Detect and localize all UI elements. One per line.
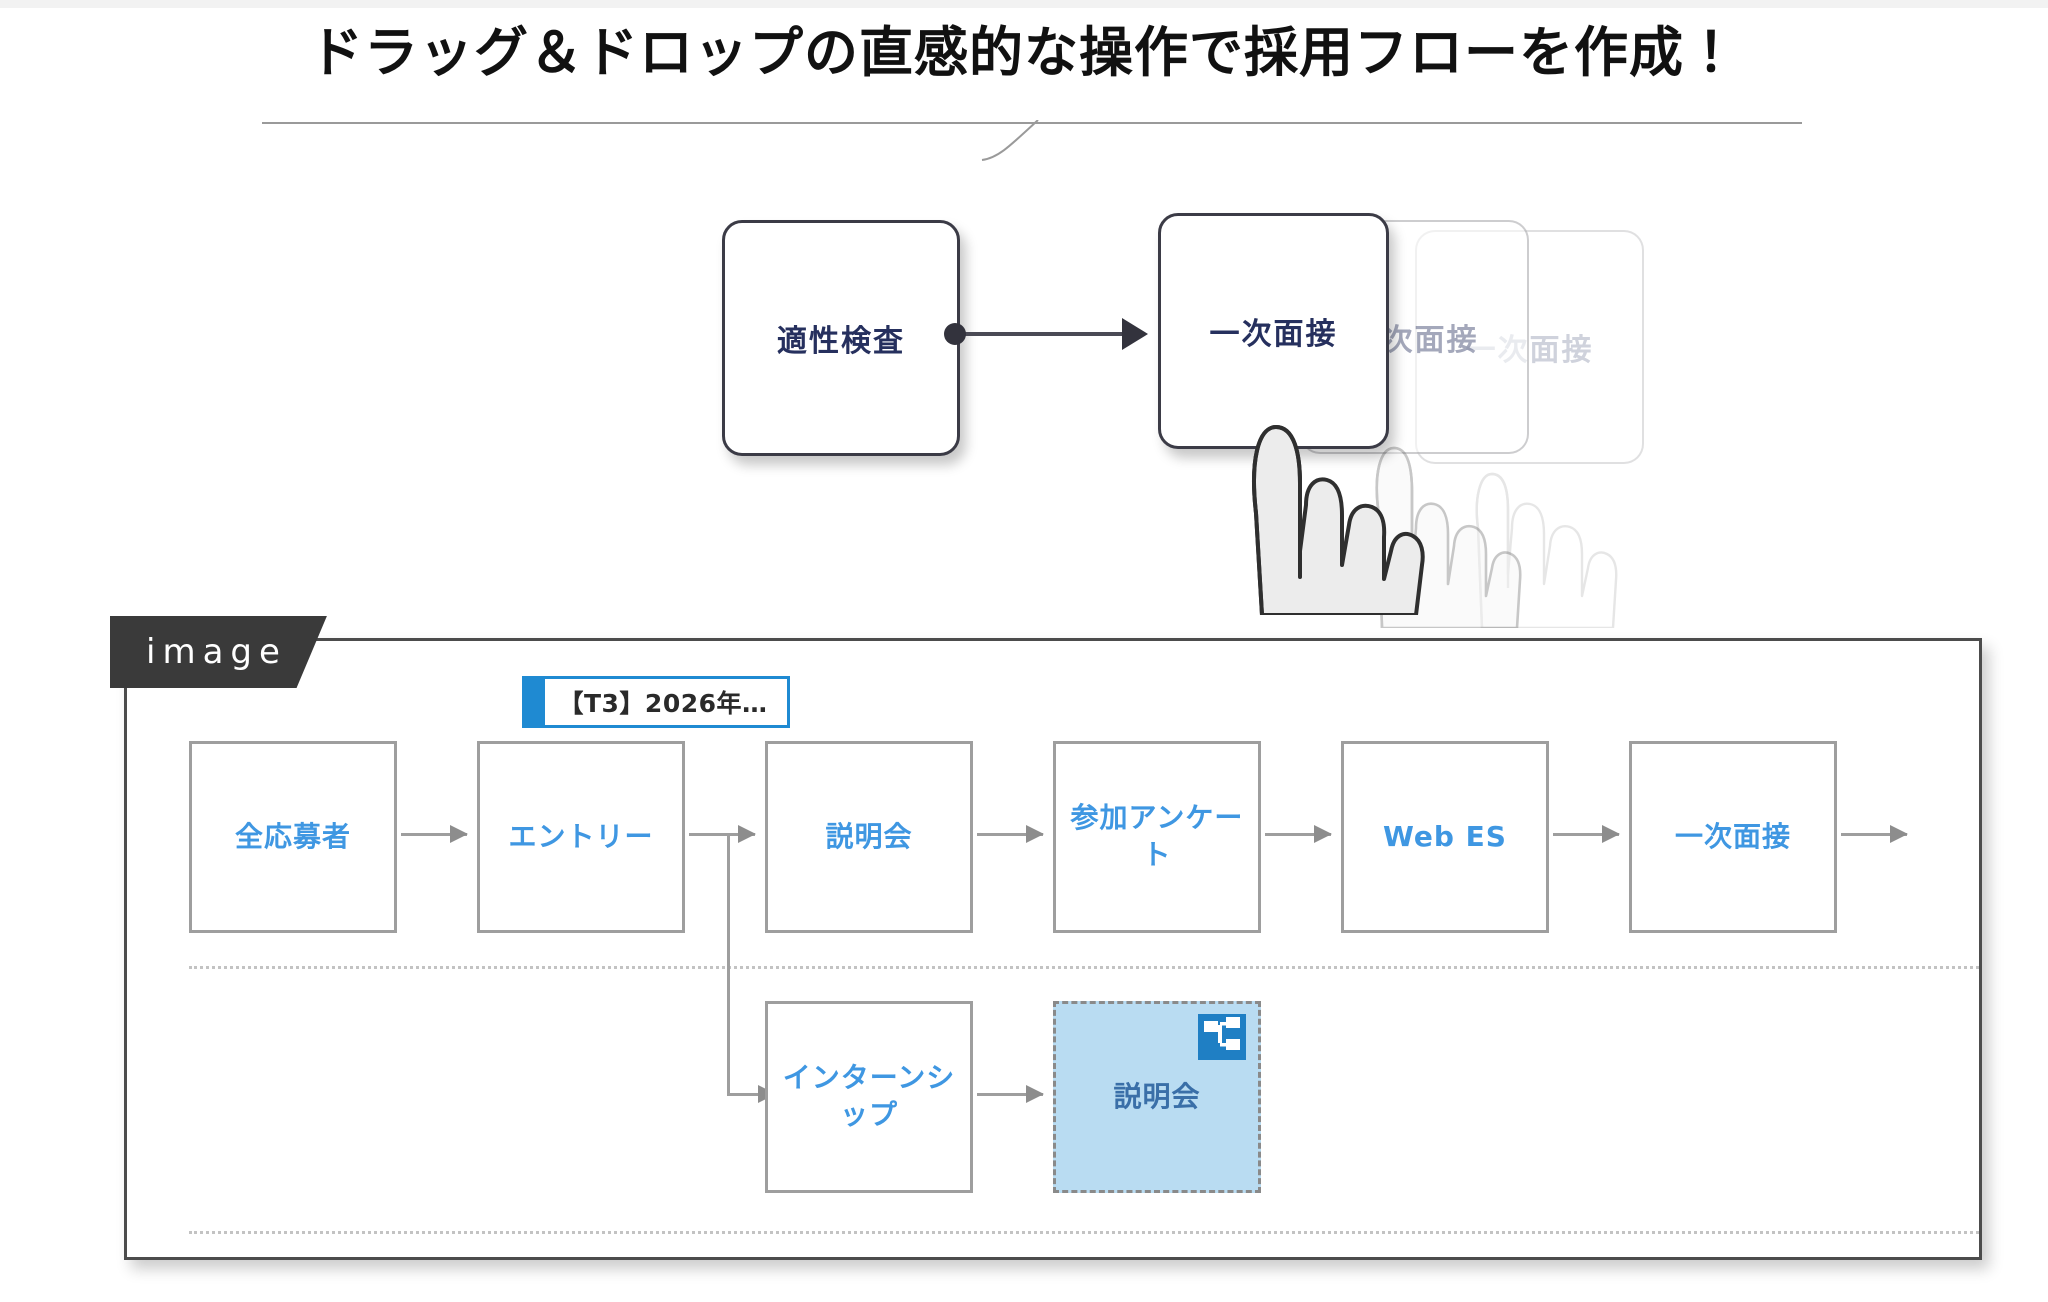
flow-arrow-3 <box>977 833 1043 836</box>
flow-arrow-2 <box>689 833 755 836</box>
drag-illustration: 一次面接 一次面接 適性検査 一次面接 <box>0 150 2048 620</box>
flow-node-briefing-selected[interactable]: 説明会 <box>1053 1001 1261 1193</box>
flow-node-attendance-survey[interactable]: 参加アンケート <box>1053 741 1261 933</box>
chip-code: 【T3】 <box>558 689 644 718</box>
flow-node-briefing[interactable]: 説明会 <box>765 741 973 933</box>
flow-node-label: 全応募者 <box>235 819 351 856</box>
lane-divider-2 <box>189 1231 1979 1234</box>
flow-arrow-1 <box>401 833 467 836</box>
flow-node-label: 一次面接 <box>1210 309 1338 353</box>
connector-line <box>960 332 1132 336</box>
chip-text-value: 2026年… <box>645 689 768 718</box>
image-preview-panel: 全応募者 エントリー 説明会 参加アンケート Web ES 一次面接 インターン… <box>124 638 1982 1260</box>
flow-node-first-interview[interactable]: 一次面接 <box>1629 741 1837 933</box>
org-chart-icon <box>1198 1014 1246 1060</box>
window-top-strip <box>0 0 2048 8</box>
lane-divider-1 <box>189 966 1979 969</box>
panel-tag-label: image <box>146 632 287 672</box>
flow-node-label: エントリー <box>508 819 653 856</box>
flow-canvas[interactable]: 全応募者 エントリー 説明会 参加アンケート Web ES 一次面接 インターン… <box>127 641 1979 1257</box>
flow-node-label: インターンシップ <box>776 1060 962 1134</box>
panel-tag-image: image <box>110 616 327 688</box>
flow-branch-vertical <box>727 833 730 1095</box>
pointing-hand-icon <box>1222 365 1432 615</box>
flow-node-all-applicants[interactable]: 全応募者 <box>189 741 397 933</box>
page-title-area: ドラッグ＆ドロップの直感的な操作で採用フローを作成！ <box>0 22 2048 84</box>
flow-node-label: 説明会 <box>1113 1079 1200 1116</box>
flow-node-label: 適性検査 <box>777 316 905 360</box>
chip-accent-bar <box>525 679 545 725</box>
flow-node-internship[interactable]: インターンシップ <box>765 1001 973 1193</box>
flow-arrow-5 <box>1553 833 1619 836</box>
flow-arrow-6 <box>1841 833 1907 836</box>
page-title: ドラッグ＆ドロップの直感的な操作で採用フローを作成！ <box>309 22 1739 84</box>
flow-node-label: 説明会 <box>825 819 912 856</box>
flow-node-label: 一次面接 <box>1675 819 1791 856</box>
flow-arrow-4 <box>1265 833 1331 836</box>
connector-arrowhead-icon <box>1122 318 1148 350</box>
flow-chip-t3[interactable]: 【T3】2026年… <box>522 676 790 728</box>
connector-start-dot <box>944 323 966 345</box>
flow-arrow-7 <box>977 1093 1043 1096</box>
flow-node-label: 参加アンケート <box>1064 800 1250 874</box>
flow-node-web-es[interactable]: Web ES <box>1341 741 1549 933</box>
flow-node-entry[interactable]: エントリー <box>477 741 685 933</box>
flow-node-aptitude-test[interactable]: 適性検査 <box>722 220 960 456</box>
chip-label: 【T3】2026年… <box>545 684 787 720</box>
flow-node-label: Web ES <box>1383 819 1507 856</box>
